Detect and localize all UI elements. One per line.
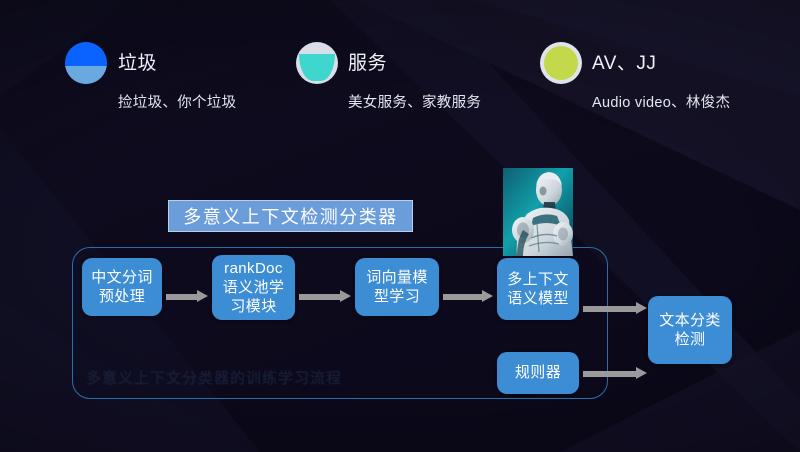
node-word-vector-model[interactable]: 词向量模 型学习 bbox=[355, 258, 439, 316]
node-text-classification-detection[interactable]: 文本分类 检测 bbox=[648, 296, 732, 364]
arrow-n2-to-n3 bbox=[299, 290, 351, 303]
filled-circle-teal-icon bbox=[296, 42, 338, 84]
node-line: 多上下文 bbox=[507, 270, 569, 289]
node-rankdoc-semantic-pool[interactable]: rankDoc 语义池学 习模块 bbox=[212, 255, 295, 320]
android-robot-image bbox=[503, 168, 573, 256]
node-line: 词向量模 bbox=[366, 268, 428, 287]
node-line: 文本分类 bbox=[659, 311, 721, 330]
filled-circle-lime-icon bbox=[540, 42, 582, 84]
arrow-n1-to-n2 bbox=[166, 290, 208, 303]
filled-circle-blue-icon bbox=[65, 42, 107, 84]
node-chinese-segmentation[interactable]: 中文分词 预处理 bbox=[82, 258, 162, 316]
node-line: 语义模型 bbox=[507, 289, 569, 308]
diagram-title-chip: 多意义上下文检测分类器 bbox=[168, 200, 413, 232]
arrow-n4-to-n6 bbox=[583, 302, 647, 315]
node-line: rankDoc bbox=[224, 259, 283, 278]
node-line: 语义池学 bbox=[223, 278, 285, 297]
node-line: 习模块 bbox=[230, 297, 276, 316]
node-line: 预处理 bbox=[99, 287, 145, 306]
node-line: 中文分词 bbox=[91, 268, 153, 287]
node-rule-engine[interactable]: 规则器 bbox=[497, 352, 579, 394]
legend-title-1: 垃圾 bbox=[118, 48, 157, 75]
node-multi-context-semantic-model[interactable]: 多上下文 语义模型 bbox=[497, 258, 579, 320]
legend-subtitle-3: Audio video、林俊杰 bbox=[592, 91, 730, 112]
arrow-n3-to-n4 bbox=[443, 290, 493, 303]
node-line: 型学习 bbox=[374, 287, 420, 306]
legend-subtitle-2: 美女服务、家教服务 bbox=[348, 91, 481, 112]
legend-title-2: 服务 bbox=[348, 48, 387, 75]
node-line: 检测 bbox=[675, 330, 706, 349]
legend-subtitle-1: 捡垃圾、你个垃圾 bbox=[118, 91, 236, 112]
legend-row: 垃圾 捡垃圾、你个垃圾 服务 美女服务、家教服务 AV、JJ Audio vid… bbox=[0, 0, 800, 140]
arrow-n5-to-n6 bbox=[583, 367, 647, 380]
node-line: 规则器 bbox=[515, 363, 561, 382]
legend-title-3: AV、JJ bbox=[592, 48, 656, 75]
slide-canvas: 垃圾 捡垃圾、你个垃圾 服务 美女服务、家教服务 AV、JJ Audio vid… bbox=[0, 0, 800, 452]
diagram-frame-caption: 多意义上下文分类器的训练学习流程 bbox=[86, 367, 342, 388]
